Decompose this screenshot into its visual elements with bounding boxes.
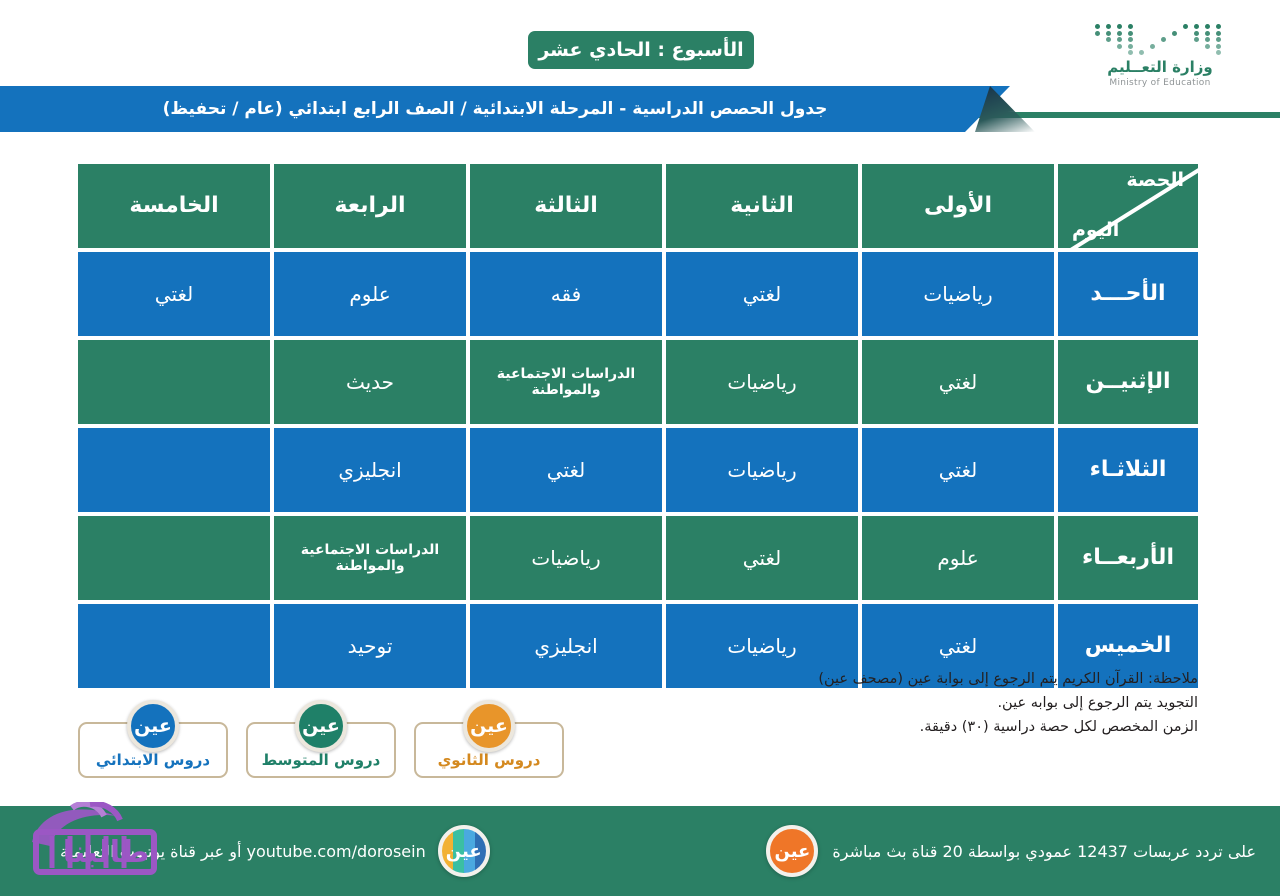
moe-dots-pattern [1095,24,1225,57]
corner-period-label: الحصة [1126,170,1184,192]
ain-badge-circle-icon: عين [127,700,179,752]
subject-cell: الدراسات الاجتماعية والمواطنة [274,516,466,600]
corner-day-label: اليوم [1072,220,1119,242]
talibuna-logo: طالبنا [20,802,190,880]
ain-multicolor-logo-icon: عين [438,825,490,877]
period-header-3: الثالثة [470,164,662,248]
subject-cell: علوم [862,516,1054,600]
note-line-1: ملاحظة: القرآن الكريم يتم الرجوع إلى بوا… [678,668,1198,692]
ain-orange-logo-icon: عين [766,825,818,877]
subject-cell: توحيد [274,604,466,688]
day-label-4: الأربعــاء [1058,516,1198,600]
ain-badge-circle-icon: عين [295,700,347,752]
table-row: الثلاثـاءلغتيرياضياتلغتيانجليزي [70,428,1198,512]
subject-cell: الدراسات الاجتماعية والمواطنة [470,340,662,424]
subject-cell: رياضيات [666,340,858,424]
subject-cell: علوم [274,252,466,336]
period-header-2: الثانية [666,164,858,248]
note-line-3: الزمن المخصص لكل حصة دراسية (٣٠) دقيقة. [678,716,1198,740]
footer-broadcast-group: على تردد عربسات 12437 عمودي بواسطة 20 قن… [766,824,1256,878]
corner-header-cell: الحصةاليوم [1058,164,1198,248]
ain-badge[interactable]: دروس الثانويعين [414,700,564,778]
subject-cell: حديث [274,340,466,424]
banner-title-text: جدول الحصص الدراسية - المرحلة الابتدائية… [0,86,990,132]
day-label-3: الثلاثـاء [1058,428,1198,512]
ain-badge[interactable]: دروس الابتدائيعين [78,700,228,778]
subject-cell: فقه [470,252,662,336]
ministry-name-ar: وزارة التعــليم [1070,60,1250,75]
subject-cell [78,516,270,600]
ain-badge[interactable]: دروس المتوسطعين [246,700,396,778]
svg-text:طالبنا: طالبنا [63,835,150,870]
subject-cell: رياضيات [470,516,662,600]
ain-orange-label: عين [775,841,811,862]
ain-badge-circle-icon: عين [463,700,515,752]
subject-cell [78,428,270,512]
schedule-table: الحصةاليومالأولىالثانيةالثالثةالرابعةالخ… [70,164,1198,692]
title-banner: جدول الحصص الدراسية - المرحلة الابتدائية… [0,86,1280,132]
subject-cell: لغتي [666,252,858,336]
period-header-1: الأولى [862,164,1054,248]
day-label-1: الأحـــد [1058,252,1198,336]
subject-cell: انجليزي [274,428,466,512]
footer-broadcast-text: على تردد عربسات 12437 عمودي بواسطة 20 قن… [832,842,1256,861]
subject-cell: لغتي [470,428,662,512]
schedule-page: الأسبوع : الحادي عشر وزارة التعــليم Min… [0,0,1280,896]
subject-cell: انجليزي [470,604,662,688]
subject-cell: لغتي [862,340,1054,424]
subject-cell: لغتي [78,252,270,336]
talibuna-logo-icon: طالبنا [20,802,190,880]
ain-badges-group: دروس الثانويعيندروس المتوسطعيندروس الابت… [78,700,564,778]
table-row: الأربعــاءعلوملغتيرياضياتالدراسات الاجتم… [70,516,1198,600]
footer-bar: على تردد عربسات 12437 عمودي بواسطة 20 قن… [0,806,1280,896]
table-row: الأحـــدرياضياتلغتيفقهعلوملغتي [70,252,1198,336]
subject-cell [78,604,270,688]
week-badge: الأسبوع : الحادي عشر [528,31,754,69]
subject-cell: رياضيات [666,428,858,512]
note-line-2: التجويد يتم الرجوع إلى بوابه عين. [678,692,1198,716]
subject-cell [78,340,270,424]
period-header-4: الرابعة [274,164,466,248]
subject-cell: لغتي [666,516,858,600]
table-row: الإثنيــنلغتيرياضياتالدراسات الاجتماعية … [70,340,1198,424]
table-header-row: الحصةاليومالأولىالثانيةالثالثةالرابعةالخ… [70,164,1198,248]
day-label-2: الإثنيــن [1058,340,1198,424]
period-header-5: الخامسة [78,164,270,248]
ain-multicolor-label: عين [446,841,482,862]
notes-block: ملاحظة: القرآن الكريم يتم الرجوع إلى بوا… [678,668,1198,740]
subject-cell: لغتي [862,428,1054,512]
subject-cell: رياضيات [862,252,1054,336]
